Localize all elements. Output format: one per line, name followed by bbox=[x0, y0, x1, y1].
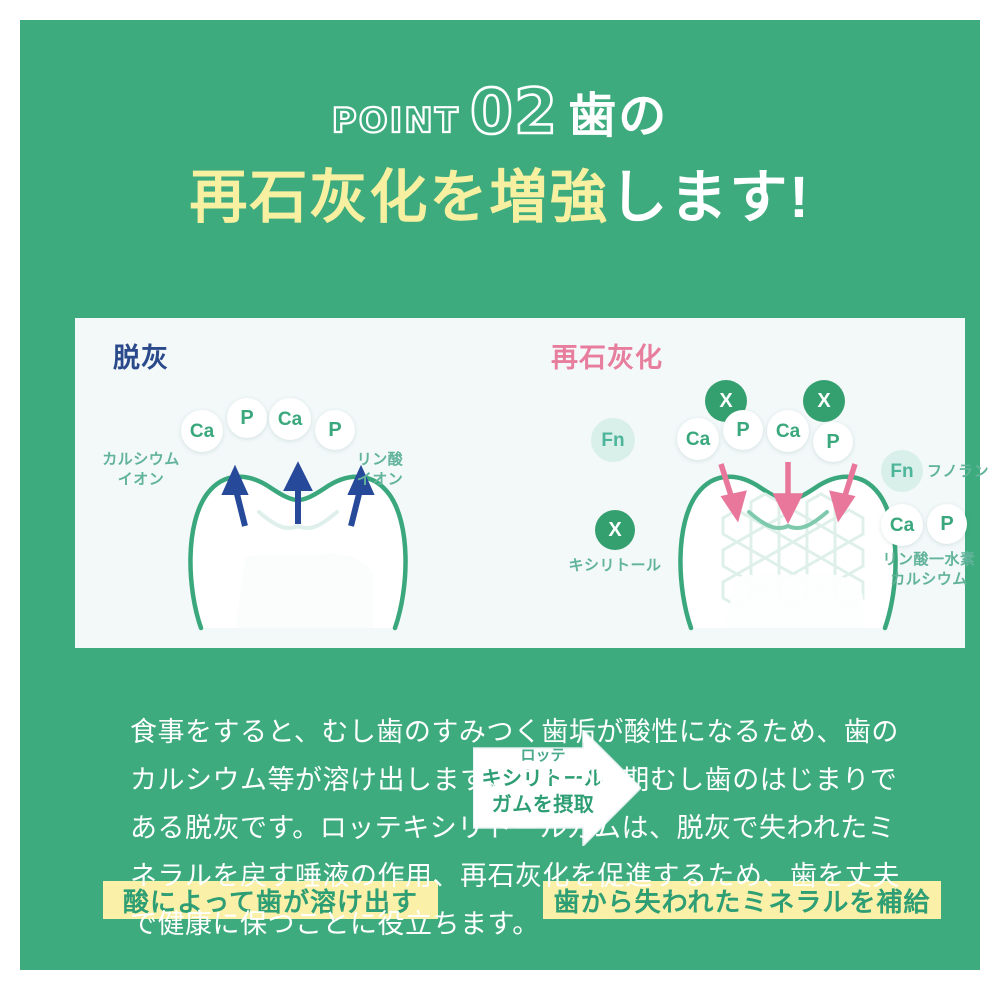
diagram-panel: 脱灰 再石灰化 Ca bbox=[75, 318, 965, 648]
body-line-5: で健康に保つことに役立ちます。 bbox=[130, 900, 930, 948]
bubble-fn-1: Fn bbox=[591, 418, 635, 462]
phosphate-ion-label-line2: イオン bbox=[357, 471, 404, 488]
bubble-ca-1: Ca bbox=[181, 410, 223, 452]
bubble-ca-2: Ca bbox=[269, 398, 311, 440]
body-line-1: 食事をすると、むし歯のすみつく歯垢が酸性になるため、歯の bbox=[130, 708, 930, 756]
calcium-ion-label-line2: イオン bbox=[118, 471, 165, 488]
bubble-p-2: P bbox=[315, 410, 355, 450]
legend-cahpo4-line2: カルシウム bbox=[890, 571, 968, 588]
remineralization-title: 再石灰化 bbox=[551, 336, 663, 375]
bubble-ca-4: Ca bbox=[767, 410, 809, 452]
legend-cahpo4-line1: リン酸一水素 bbox=[882, 551, 975, 568]
body-line-3: ある脱灰です。ロッテキシリトールガムは、脱灰で失われたミ bbox=[130, 804, 930, 852]
legend-cahpo4-label: リン酸一水素 カルシウム bbox=[867, 550, 991, 591]
heading-block: POINT 02 歯の 再石灰化を増強します! bbox=[20, 75, 980, 232]
calcium-ion-label: カルシウム イオン bbox=[93, 450, 189, 491]
legend-ca-icon: Ca bbox=[881, 504, 923, 546]
legend-x-icon: X bbox=[595, 510, 635, 550]
headline-emphasis: 再石灰化を増強 bbox=[189, 165, 609, 230]
legend-p-icon: P bbox=[927, 504, 967, 544]
body-line-2: カルシウム等が溶け出します。これが初期むし歯のはじまりで bbox=[130, 756, 930, 804]
point-word: POINT bbox=[332, 104, 460, 143]
bubble-p-4: P bbox=[813, 422, 853, 462]
body-paragraph: 食事をすると、むし歯のすみつく歯垢が酸性になるため、歯の カルシウム等が溶け出し… bbox=[130, 708, 930, 948]
point-number: 02 bbox=[470, 81, 558, 143]
page-root: POINT 02 歯の 再石灰化を増強します! 脱灰 再石灰化 bbox=[0, 0, 1000, 1000]
legend-fn-label: フノラン bbox=[927, 462, 1000, 482]
page-title: 再石灰化を増強します! bbox=[20, 165, 980, 232]
point-tail-text: 歯の bbox=[568, 93, 668, 143]
bubble-p-1: P bbox=[227, 398, 267, 438]
headline-rest: します! bbox=[609, 165, 810, 230]
bubble-x-2: X bbox=[803, 380, 845, 422]
calcium-ion-label-line1: カルシウム bbox=[102, 451, 180, 468]
bubble-ca-3: Ca bbox=[677, 418, 719, 460]
phosphate-ion-label: リン酸 イオン bbox=[337, 450, 423, 491]
bubble-p-3: P bbox=[723, 410, 763, 450]
point-line: POINT 02 歯の bbox=[20, 75, 980, 143]
green-card: POINT 02 歯の 再石灰化を増強します! 脱灰 再石灰化 bbox=[20, 20, 980, 970]
body-line-4: ネラルを戻す唾液の作用、再石灰化を促進するため、歯を丈夫 bbox=[130, 852, 930, 900]
phosphate-ion-label-line1: リン酸 bbox=[357, 451, 404, 468]
demineralization-title: 脱灰 bbox=[113, 336, 169, 375]
legend-fn-icon: Fn bbox=[881, 450, 923, 492]
legend-x-label: キシリトール bbox=[557, 556, 673, 576]
